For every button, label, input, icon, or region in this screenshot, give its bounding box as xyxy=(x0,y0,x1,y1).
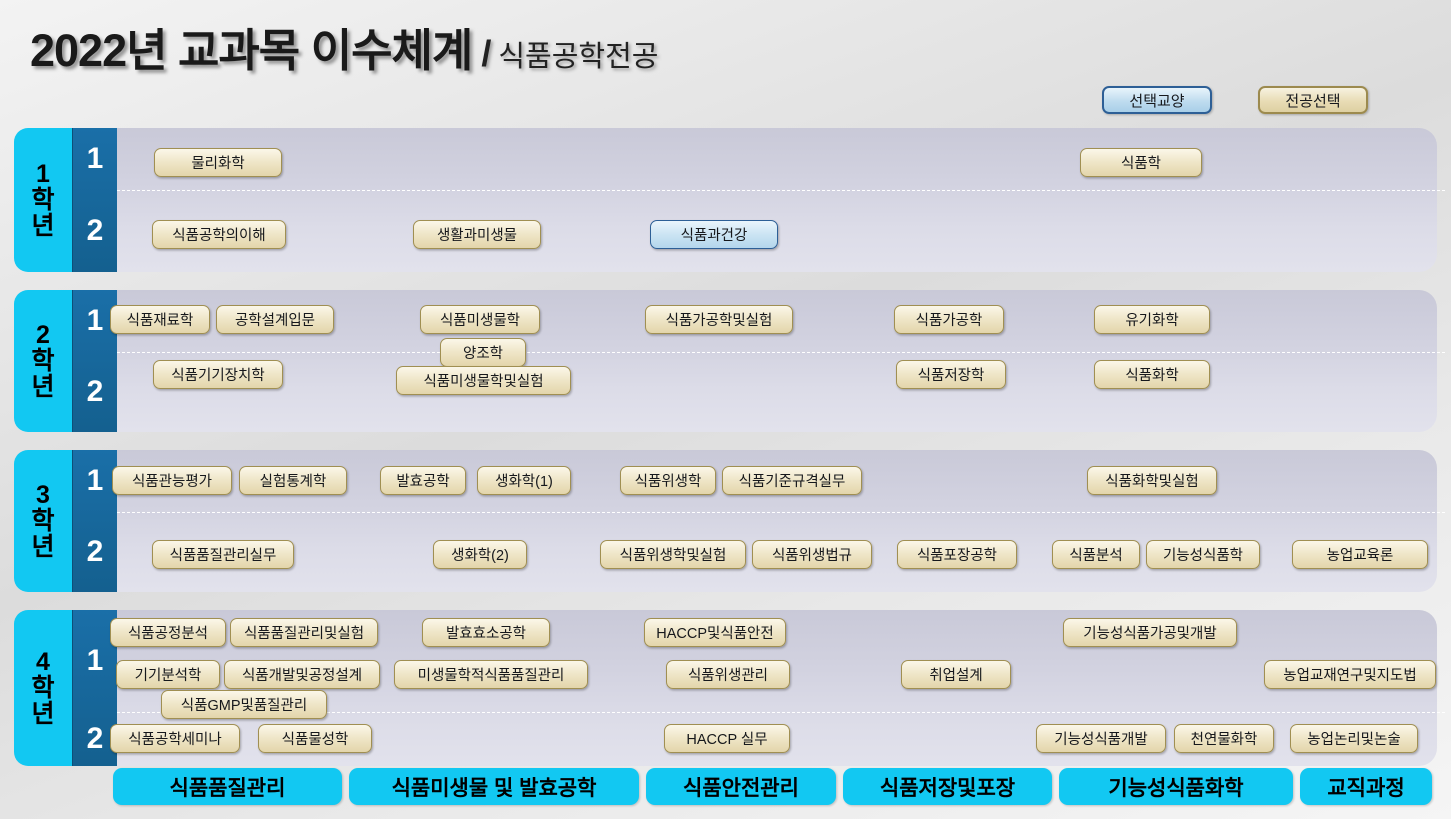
semester-divider xyxy=(102,512,1445,513)
course-chip[interactable]: 미생물학적식품품질관리 xyxy=(394,660,588,689)
course-chip[interactable]: 식품미생물학및실험 xyxy=(396,366,571,395)
course-chip[interactable]: 생활과미생물 xyxy=(413,220,541,249)
course-chip[interactable]: 실험통계학 xyxy=(239,466,347,495)
course-chip[interactable]: 발효공학 xyxy=(380,466,466,495)
semester-column: 12 xyxy=(72,128,117,272)
course-chip[interactable]: 식품미생물학 xyxy=(420,305,540,334)
course-chip[interactable]: 식품공정분석 xyxy=(110,618,226,647)
year-label-part-hak: 학 xyxy=(31,509,54,534)
course-chip[interactable]: 기능성식품개발 xyxy=(1036,724,1166,753)
year-label-part-nyeon: 년 xyxy=(31,375,54,400)
year-label-1: 1학년 xyxy=(14,128,72,272)
course-chip[interactable]: 식품개발및공정설계 xyxy=(224,660,380,689)
course-chip[interactable]: 식품공학세미나 xyxy=(110,724,240,753)
year-label-4: 4학년 xyxy=(14,610,72,766)
course-chip[interactable]: 식품품질관리및실험 xyxy=(230,618,378,647)
course-chip[interactable]: 식품학 xyxy=(1080,148,1202,177)
course-chip[interactable]: 농업논리및논술 xyxy=(1290,724,1418,753)
course-chip[interactable]: 식품기기장치학 xyxy=(153,360,283,389)
course-chip[interactable]: 식품가공학 xyxy=(894,305,1004,334)
course-chip[interactable]: 기능성식품가공및개발 xyxy=(1063,618,1237,647)
year-label-part-nyeon: 년 xyxy=(31,535,54,560)
semester-number-1: 1 xyxy=(73,450,117,512)
course-chip[interactable]: 식품위생법규 xyxy=(752,540,872,569)
course-chip[interactable]: 식품GMP및품질관리 xyxy=(161,690,327,719)
track-button[interactable]: 교직과정 xyxy=(1300,768,1432,805)
course-chip[interactable]: 식품과건강 xyxy=(650,220,778,249)
semester-divider xyxy=(102,190,1445,191)
course-chip[interactable]: 기능성식품학 xyxy=(1146,540,1260,569)
track-button[interactable]: 식품안전관리 xyxy=(646,768,836,805)
semester-number-2: 2 xyxy=(73,512,117,592)
course-chip[interactable]: 농업교재연구및지도법 xyxy=(1264,660,1436,689)
course-chip[interactable]: 물리화학 xyxy=(154,148,282,177)
course-chip[interactable]: 식품기준규격실무 xyxy=(722,466,862,495)
year-label-2: 2학년 xyxy=(14,290,72,432)
course-chip[interactable]: 식품분석 xyxy=(1052,540,1140,569)
course-chip[interactable]: 식품위생학및실험 xyxy=(600,540,746,569)
course-chip[interactable]: 농업교육론 xyxy=(1292,540,1428,569)
semester-divider xyxy=(102,352,1445,353)
page-title-subtitle: 식품공학전공 xyxy=(498,33,658,75)
course-chip[interactable]: 생화학(2) xyxy=(433,540,527,569)
semester-number-2: 2 xyxy=(73,352,117,432)
course-chip[interactable]: 식품공학의이해 xyxy=(152,220,286,249)
course-chip[interactable]: 발효효소공학 xyxy=(422,618,550,647)
curriculum-diagram: 2022년 교과목 이수체계 / 식품공학전공 선택교양 전공선택 1학년122… xyxy=(0,0,1451,819)
year-label-part-num: 4 xyxy=(36,650,50,675)
course-chip[interactable]: 식품화학및실험 xyxy=(1087,466,1217,495)
course-chip[interactable]: 식품물성학 xyxy=(258,724,372,753)
course-chip[interactable]: 식품관능평가 xyxy=(112,466,232,495)
legend-elective-course: 선택교양 xyxy=(1102,86,1212,114)
course-chip[interactable]: 식품품질관리실무 xyxy=(152,540,294,569)
course-chip[interactable]: 공학설계입문 xyxy=(216,305,334,334)
year-label-part-num: 1 xyxy=(36,162,50,187)
course-chip[interactable]: 식품위생관리 xyxy=(666,660,790,689)
course-chip[interactable]: 유기화학 xyxy=(1094,305,1210,334)
legend-major-elective-course: 전공선택 xyxy=(1258,86,1368,114)
course-chip[interactable]: 식품재료학 xyxy=(110,305,210,334)
semester-number-2: 2 xyxy=(73,190,117,272)
course-chip[interactable]: 식품포장공학 xyxy=(897,540,1017,569)
year-label-part-hak: 학 xyxy=(31,349,54,374)
year-label-part-num: 2 xyxy=(36,323,50,348)
year-label-part-hak: 학 xyxy=(31,188,54,213)
semester-column: 12 xyxy=(72,450,117,592)
course-chip[interactable]: 기기분석학 xyxy=(116,660,220,689)
year-label-3: 3학년 xyxy=(14,450,72,592)
page-title-separator: / xyxy=(481,33,491,75)
page-title-main: 2022년 교과목 이수체계 xyxy=(30,14,472,79)
course-chip[interactable]: 식품가공학및실험 xyxy=(645,305,793,334)
page-title: 2022년 교과목 이수체계 / 식품공학전공 xyxy=(30,14,658,79)
track-button[interactable]: 식품품질관리 xyxy=(113,768,342,805)
course-chip[interactable]: 천연물화학 xyxy=(1174,724,1274,753)
course-chip[interactable]: 생화학(1) xyxy=(477,466,571,495)
course-chip[interactable]: HACCP 실무 xyxy=(664,724,790,753)
course-chip[interactable]: 취업설계 xyxy=(901,660,1011,689)
year-label-part-num: 3 xyxy=(36,483,50,508)
year-label-part-nyeon: 년 xyxy=(31,702,54,727)
track-button[interactable]: 기능성식품화학 xyxy=(1059,768,1293,805)
course-chip[interactable]: 식품위생학 xyxy=(620,466,716,495)
year-label-part-nyeon: 년 xyxy=(31,214,54,239)
course-chip[interactable]: 식품화학 xyxy=(1094,360,1210,389)
year-label-part-hak: 학 xyxy=(31,676,54,701)
course-chip[interactable]: 양조학 xyxy=(440,338,526,367)
semester-number-1: 1 xyxy=(73,128,117,190)
track-button[interactable]: 식품저장및포장 xyxy=(843,768,1052,805)
course-chip[interactable]: HACCP및식품안전 xyxy=(644,618,786,647)
track-button[interactable]: 식품미생물 및 발효공학 xyxy=(349,768,639,805)
course-chip[interactable]: 식품저장학 xyxy=(896,360,1006,389)
